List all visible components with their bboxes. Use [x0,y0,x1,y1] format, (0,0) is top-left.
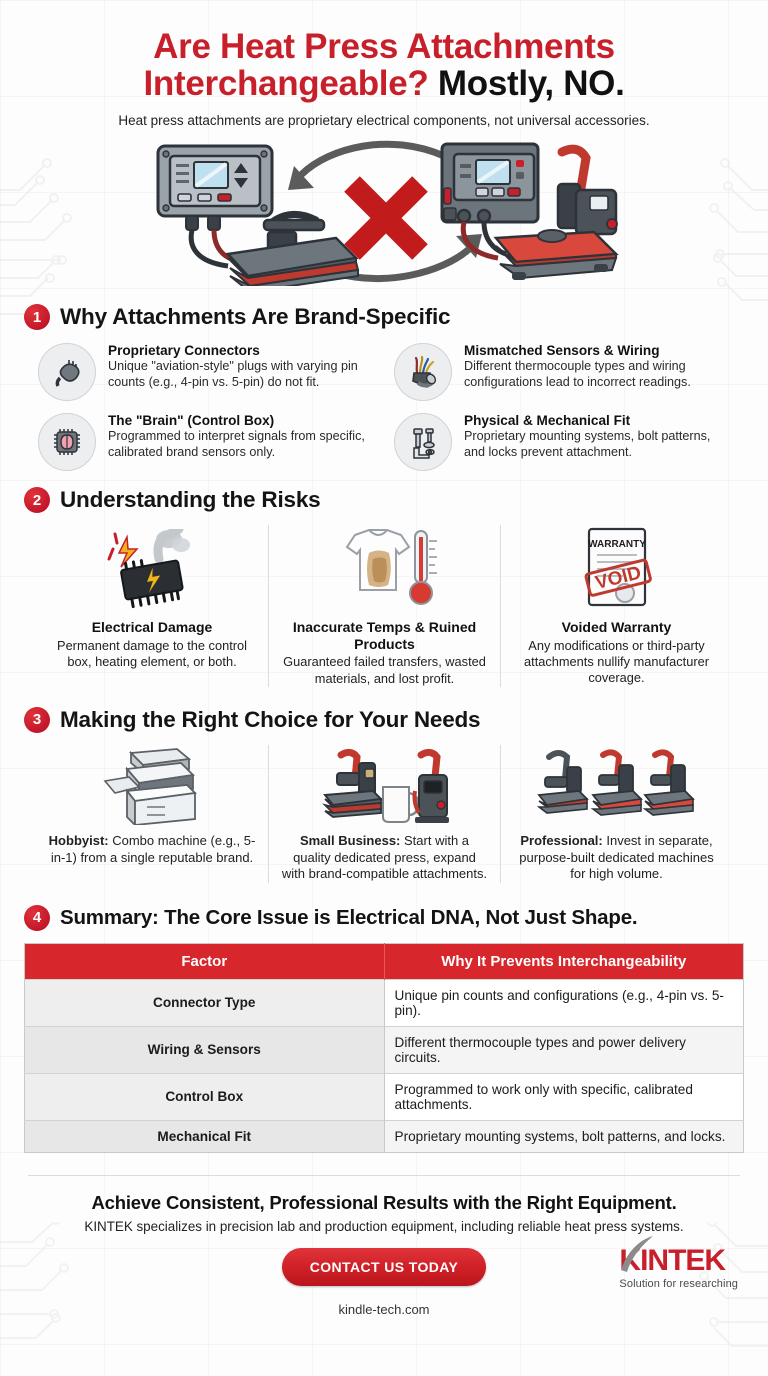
section-4-heading: 4 Summary: The Core Issue is Electrical … [24,905,744,931]
summary-table: Factor Why It Prevents Interchangeabilit… [24,943,744,1153]
logo-swoosh-icon [617,1234,657,1274]
control-box-unit [158,146,272,266]
table-cell-reason: Proprietary mounting systems, bolt patte… [384,1120,744,1152]
risk-item: WARRANTY VOID Voided Warranty Any modifi… [500,525,732,687]
table-header-reason: Why It Prevents Interchangeability [384,943,744,979]
choice-label: Professional: [520,833,602,848]
risk-body: Guaranteed failed transfers, wasted mate… [281,654,488,687]
warranty-void-icon: WARRANTY VOID [513,525,720,609]
kintek-logo: KINTEK Solution for researching [619,1246,738,1290]
feature-body: Unique "aviation-style" plugs with varyi… [108,359,374,391]
section-3-items: Hobbyist: Combo machine (e.g., 5-in-1) f… [24,745,744,883]
bolts-hardware-icon [394,413,452,471]
table-cell-reason: Different thermocouple types and power d… [384,1026,744,1073]
feature-text: Mismatched Sensors & Wiring Different th… [464,343,730,391]
section-1-items: Proprietary Connectors Unique "aviation-… [24,343,744,471]
table-row: Mechanical Fit Proprietary mounting syst… [25,1120,744,1152]
table-cell-factor: Wiring & Sensors [25,1026,385,1073]
title-line-2: Interchangeable? Mostly, NO. [24,65,744,102]
feature-item: The "Brain" (Control Box) Programmed to … [38,413,374,471]
risk-body: Any modifications or third-party attachm… [513,638,720,687]
feature-item: Mismatched Sensors & Wiring Different th… [394,343,730,401]
section-3-title: Making the Right Choice for Your Needs [60,707,480,733]
feature-heading: Proprietary Connectors [108,343,374,358]
feature-body: Different thermocouple types and wiring … [464,359,730,391]
choice-item: Professional: Invest in separate, purpos… [500,745,732,883]
choice-body: Hobbyist: Combo machine (e.g., 5-in-1) f… [48,833,256,866]
section-1-title: Why Attachments Are Brand-Specific [60,304,450,330]
table-header-row: Factor Why It Prevents Interchangeabilit… [25,943,744,979]
title-line-2-black: Mostly, NO. [438,64,625,103]
red-x-incompatible [352,184,420,252]
table-row: Connector Type Unique pin counts and con… [25,979,744,1026]
feature-item: Proprietary Connectors Unique "aviation-… [38,343,374,401]
svg-text:WARRANTY: WARRANTY [588,539,646,550]
choice-item: Hobbyist: Combo machine (e.g., 5-in-1) f… [36,745,268,883]
cta-row: CONTACT US TODAY KINTEK Solution for res… [24,1248,744,1290]
table-cell-factor: Connector Type [25,979,385,1026]
flat-press-left [228,215,358,287]
feature-heading: Mismatched Sensors & Wiring [464,343,730,358]
section-3-badge: 3 [24,707,50,733]
hero-illustration [24,136,744,288]
arrow-right-to-left [302,144,444,174]
section-2-items: Electrical Damage Permanent damage to th… [24,525,744,687]
feature-item: Physical & Mechanical Fit Proprietary mo… [394,413,730,471]
choice-label: Hobbyist: [49,833,109,848]
footer: Achieve Consistent, Professional Results… [24,1192,744,1317]
risk-heading: Inaccurate Temps & Ruined Products [281,619,488,652]
section-3-heading: 3 Making the Right Choice for Your Needs [24,707,744,733]
feature-body: Programmed to interpret signals from spe… [108,429,374,461]
risk-body: Permanent damage to the control box, hea… [48,638,256,671]
hero-illustration-svg [124,136,644,286]
section-1-badge: 1 [24,304,50,330]
three-presses-icon [513,745,720,825]
scorched-shirt-thermometer-icon [281,525,488,609]
press-and-mug-icon [281,745,488,825]
table-header-factor: Factor [25,943,385,979]
table-row: Wiring & Sensors Different thermocouple … [25,1026,744,1073]
choice-item: Small Business: Start with a quality ded… [268,745,500,883]
feature-body: Proprietary mounting systems, bolt patte… [464,429,730,461]
logo-wordmark: KINTEK [619,1246,738,1276]
feature-heading: The "Brain" (Control Box) [108,413,374,428]
choice-body: Small Business: Start with a quality ded… [281,833,488,883]
page-title: Are Heat Press Attachments Interchangeab… [24,0,744,102]
footer-divider [28,1175,740,1176]
risk-item: Electrical Damage Permanent damage to th… [36,525,268,687]
table-cell-factor: Control Box [25,1073,385,1120]
feature-text: Proprietary Connectors Unique "aviation-… [108,343,374,391]
section-2-title: Understanding the Risks [60,487,320,513]
feature-heading: Physical & Mechanical Fit [464,413,730,428]
table-cell-reason: Programmed to work only with specific, c… [384,1073,744,1120]
page-subtitle: Heat press attachments are proprietary e… [24,113,744,128]
footer-subline: KINTEK specializes in precision lab and … [24,1219,744,1234]
wiring-harness-icon [394,343,452,401]
title-line-1: Are Heat Press Attachments [24,28,744,65]
website-url: kindle-tech.com [24,1302,744,1317]
branded-heat-press [442,144,617,280]
table-cell-factor: Mechanical Fit [25,1120,385,1152]
choice-label: Small Business: [300,833,400,848]
combo-machine-icon [48,745,256,825]
section-2-badge: 2 [24,487,50,513]
burning-chip-icon [48,525,256,609]
logo-tagline: Solution for researching [619,1278,738,1290]
section-4-title: Summary: The Core Issue is Electrical DN… [60,906,637,930]
contact-us-button[interactable]: CONTACT US TODAY [282,1248,487,1286]
feature-text: The "Brain" (Control Box) Programmed to … [108,413,374,461]
infographic-page: Are Heat Press Attachments Interchangeab… [0,0,768,1317]
table-row: Control Box Programmed to work only with… [25,1073,744,1120]
section-4-badge: 4 [24,905,50,931]
power-plug-icon [38,343,96,401]
section-2-heading: 2 Understanding the Risks [24,487,744,513]
table-cell-reason: Unique pin counts and configurations (e.… [384,979,744,1026]
choice-body: Professional: Invest in separate, purpos… [513,833,720,883]
risk-item: Inaccurate Temps & Ruined Products Guara… [268,525,500,687]
title-line-2-red: Interchangeable? [143,64,428,103]
risk-heading: Electrical Damage [48,619,256,636]
section-1-heading: 1 Why Attachments Are Brand-Specific [24,304,744,330]
feature-text: Physical & Mechanical Fit Proprietary mo… [464,413,730,461]
risk-heading: Voided Warranty [513,619,720,636]
footer-headline: Achieve Consistent, Professional Results… [24,1192,744,1214]
brain-chip-icon [38,413,96,471]
